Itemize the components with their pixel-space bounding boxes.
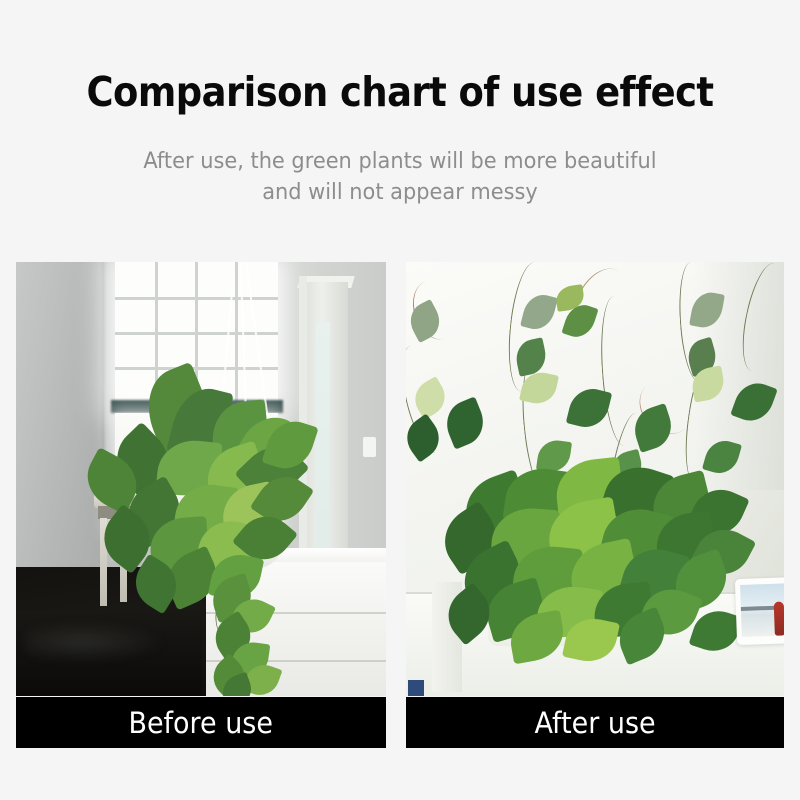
window-mullion	[115, 332, 278, 335]
label-after-text: After use	[534, 706, 655, 740]
picture-image	[740, 583, 784, 637]
after-use-photo	[406, 262, 784, 696]
light-switch	[363, 437, 376, 457]
page-title: Comparison chart of use effect	[40, 68, 760, 116]
comparison-panel-before	[16, 262, 386, 696]
page-subtitle: After use, the green plants will be more…	[20, 146, 780, 208]
label-before-text: Before use	[129, 706, 273, 740]
label-bar-after: After use	[406, 697, 784, 748]
floor-reflection	[26, 622, 166, 662]
window-mullion	[115, 367, 278, 370]
subtitle-line-2: and will not appear messy	[20, 177, 780, 208]
comparison-infographic: Comparison chart of use effect After use…	[0, 0, 800, 800]
comparison-panel-after	[406, 262, 784, 696]
subtitle-line-1: After use, the green plants will be more…	[20, 146, 780, 177]
label-bar-before: Before use	[16, 697, 386, 748]
picture-figure	[774, 601, 784, 635]
window-mullion	[115, 297, 278, 300]
wall-left	[16, 262, 104, 567]
corner-object	[408, 680, 424, 696]
before-use-photo	[16, 262, 386, 696]
framed-picture	[735, 577, 784, 645]
